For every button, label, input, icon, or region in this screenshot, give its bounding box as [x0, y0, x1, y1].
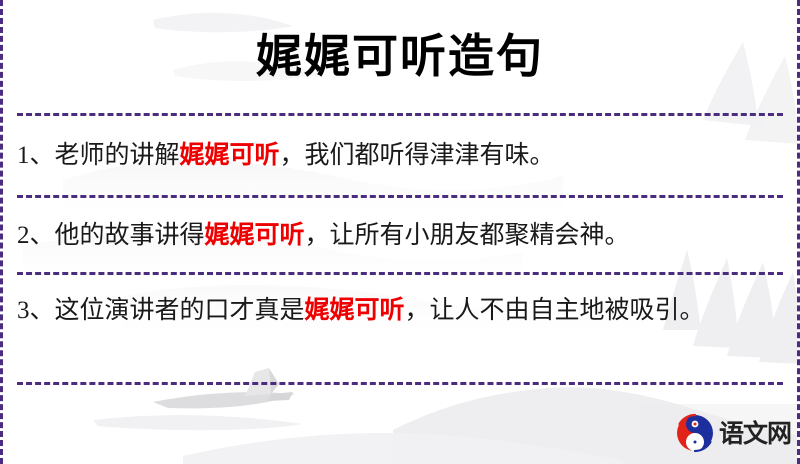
sentence-index: 2、	[17, 222, 55, 249]
sentence-row: 1、老师的讲解娓娓可听，我们都听得津津有味。	[17, 116, 783, 195]
sentence-index: 1、	[17, 142, 55, 169]
sentence-text: 1、老师的讲解娓娓可听，我们都听得津津有味。	[17, 134, 555, 177]
sentence-row: 3、这位演讲者的口才真是娓娓可听，让人不由自主地被吸引。	[17, 275, 783, 396]
sentence-before: 他的故事讲得	[55, 220, 205, 249]
sentence-worksheet-page: 娓娓可听造句 1、老师的讲解娓娓可听，我们都听得津津有味。 2、他的故事讲得娓娓…	[0, 0, 800, 464]
sentence-text: 2、他的故事讲得娓娓可听，让所有小朋友都聚精会神。	[17, 214, 630, 257]
highlight-term: 娓娓可听	[205, 220, 305, 249]
highlight-term: 娓娓可听	[305, 295, 405, 324]
sentence-after: ，让所有小朋友都聚精会神。	[305, 220, 630, 249]
highlight-term: 娓娓可听	[180, 140, 280, 169]
site-logo[interactable]: 语文网	[675, 410, 793, 456]
dashed-separator	[17, 272, 783, 275]
sentence-index: 3、	[17, 297, 55, 324]
dashed-separator	[17, 195, 783, 198]
sentence-row: 2、他的故事讲得娓娓可听，让所有小朋友都聚精会神。	[17, 198, 783, 272]
dashed-separator	[17, 382, 783, 385]
sentence-text: 3、这位演讲者的口才真是娓娓可听，让人不由自主地被吸引。	[17, 289, 705, 332]
page-title-bar: 娓娓可听造句	[3, 0, 797, 112]
sentence-after: ，我们都听得津津有味。	[280, 140, 555, 169]
taiji-fish-logo-icon	[675, 413, 715, 453]
sentence-before: 老师的讲解	[55, 140, 180, 169]
page-title: 娓娓可听造句	[256, 33, 544, 79]
dashed-separator	[17, 113, 783, 116]
sentence-before: 这位演讲者的口才真是	[55, 295, 305, 324]
sentence-after: ，让人不由自主地被吸引。	[405, 295, 705, 324]
site-logo-text: 语文网	[719, 421, 791, 446]
